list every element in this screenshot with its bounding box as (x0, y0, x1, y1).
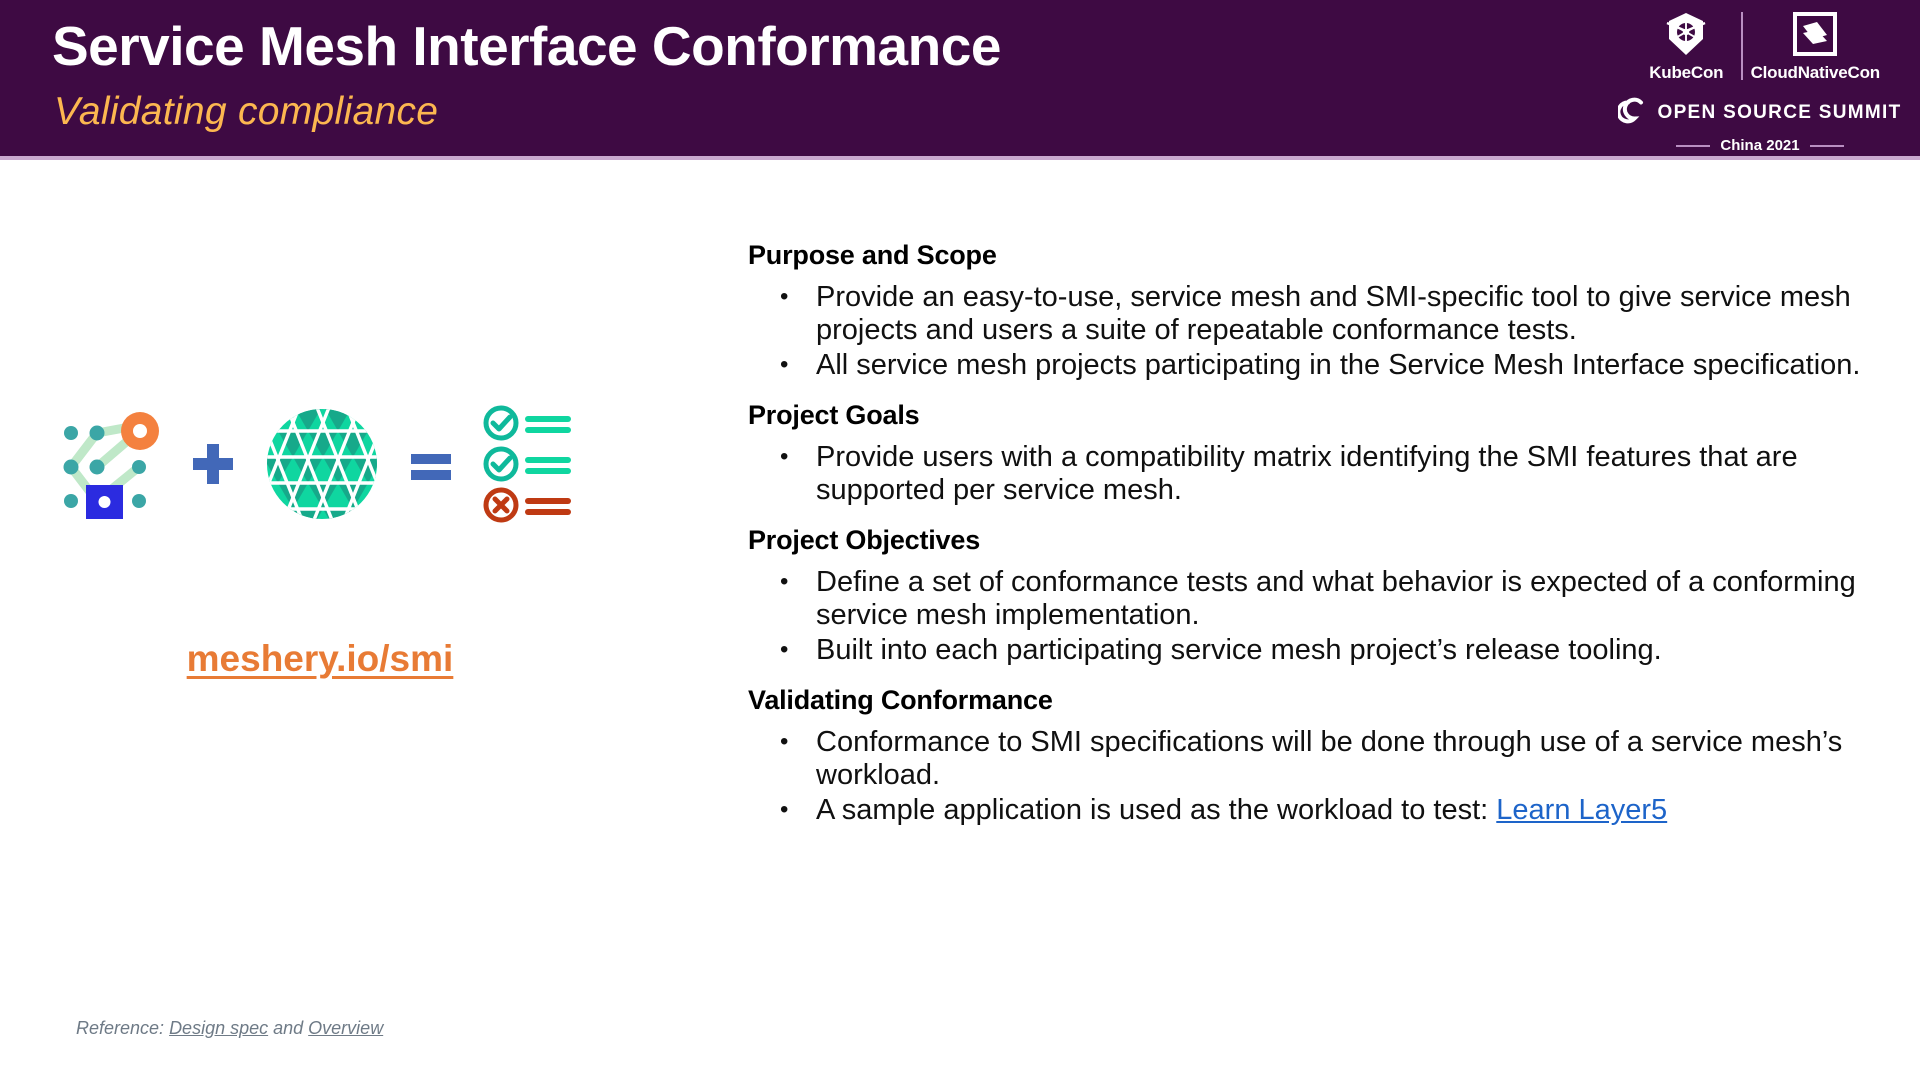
section-heading: Validating Conformance (748, 685, 1878, 716)
cloudnativecon-brand: CloudNativeCon (1751, 8, 1880, 83)
list-item: Provide users with a compatibility matri… (748, 441, 1878, 507)
conference-logo-top-row: KubeCon CloudNativeCon (1640, 8, 1880, 96)
section-purpose-and-scope: Purpose and Scope Provide an easy-to-use… (748, 240, 1878, 382)
page-title: Service Mesh Interface Conformance (52, 14, 1001, 78)
kubecon-brand: KubeCon (1640, 8, 1733, 83)
left-panel: meshery.io/smi Reference: Design spec an… (0, 160, 730, 1080)
check-circle-icon (486, 449, 571, 479)
rule-left (1676, 145, 1710, 147)
section-project-goals: Project Goals Provide users with a compa… (748, 400, 1878, 507)
equals-icon (407, 440, 455, 488)
reference-prefix: Reference: (76, 1018, 169, 1038)
section-project-objectives: Project Objectives Define a set of confo… (748, 525, 1878, 667)
section-validating-conformance: Validating Conformance Conformance to SM… (748, 685, 1878, 827)
service-mesh-icon (263, 405, 381, 523)
conference-location-row: China 2021 (1640, 137, 1880, 154)
plus-icon (189, 440, 237, 488)
conference-location-year: China 2021 (1720, 137, 1799, 154)
slide-header: Service Mesh Interface Conformance Valid… (0, 0, 1920, 160)
rule-right (1810, 145, 1844, 147)
content-body: Purpose and Scope Provide an easy-to-use… (748, 240, 1878, 829)
bullet-list: Provide users with a compatibility matri… (748, 441, 1878, 507)
conference-logo: KubeCon CloudNativeCon (1640, 8, 1880, 150)
reference-conjunction: and (268, 1018, 308, 1038)
list-item: All service mesh projects participating … (748, 349, 1878, 382)
reference-footnote: Reference: Design spec and Overview (76, 1018, 383, 1039)
conformance-equation-diagram (55, 405, 576, 523)
section-heading: Project Objectives (748, 525, 1878, 556)
check-circle-icon (486, 408, 571, 438)
bullet-list: Define a set of conformance tests and wh… (748, 566, 1878, 667)
bullet-list: Conformance to SMI specifications will b… (748, 726, 1878, 827)
kubecon-label: KubeCon (1649, 63, 1723, 83)
reference-design-spec-link[interactable]: Design spec (169, 1018, 268, 1038)
logo-divider (1741, 12, 1743, 80)
open-source-summit-row: OPEN SOURCE SUMMIT (1640, 94, 1880, 132)
x-circle-icon (486, 490, 571, 520)
oss-swirl-icon (1618, 94, 1651, 132)
learn-layer5-link[interactable]: Learn Layer5 (1496, 794, 1667, 826)
meshery-smi-link[interactable]: meshery.io/smi (0, 638, 640, 680)
open-source-summit-label: OPEN SOURCE SUMMIT (1657, 102, 1901, 124)
meshery-logo-icon (55, 409, 163, 519)
list-item-text: A sample application is used as the work… (816, 794, 1496, 826)
page-subtitle: Validating compliance (54, 90, 438, 134)
bullet-list: Provide an easy-to-use, service mesh and… (748, 281, 1878, 382)
list-item: Conformance to SMI specifications will b… (748, 726, 1878, 792)
kubernetes-helm-icon (1662, 8, 1710, 60)
cncf-square-icon (1792, 8, 1838, 60)
section-heading: Purpose and Scope (748, 240, 1878, 271)
list-item: Define a set of conformance tests and wh… (748, 566, 1878, 632)
conformance-results-icon (481, 405, 576, 523)
cloudnativecon-label: CloudNativeCon (1751, 63, 1880, 83)
list-item: Provide an easy-to-use, service mesh and… (748, 281, 1878, 347)
section-heading: Project Goals (748, 400, 1878, 431)
reference-overview-link[interactable]: Overview (308, 1018, 383, 1038)
list-item: Built into each participating service me… (748, 634, 1878, 667)
list-item: A sample application is used as the work… (748, 794, 1878, 827)
